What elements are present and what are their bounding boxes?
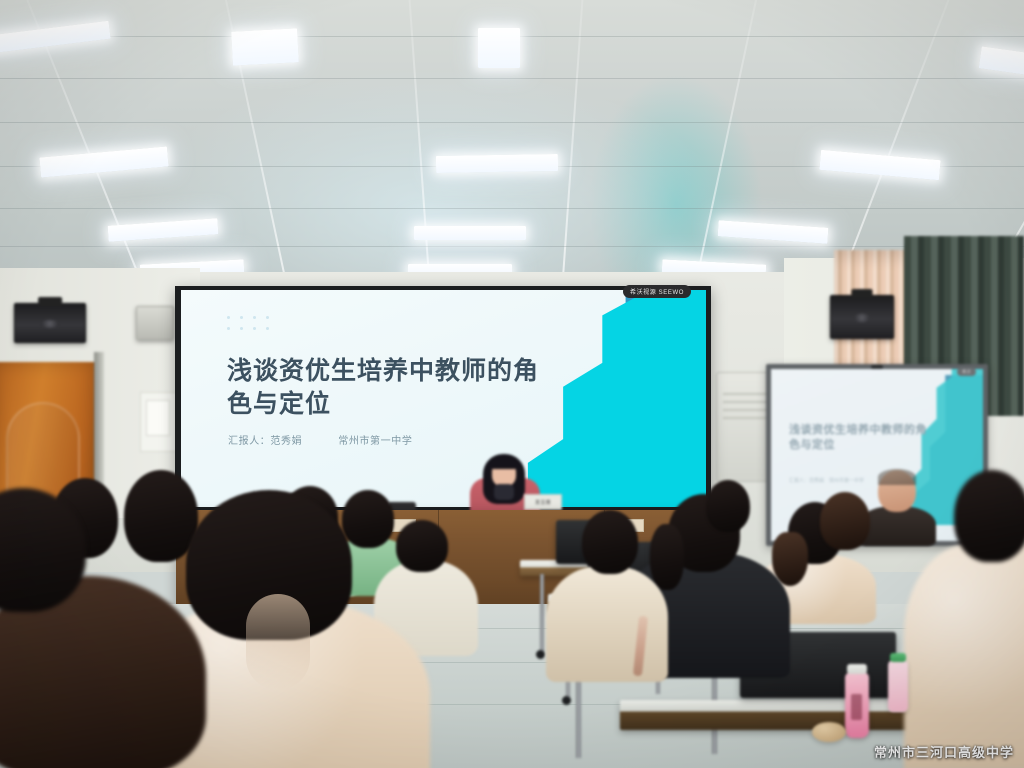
pink-thermos-bottle <box>845 672 869 738</box>
presentation-slide: 浅谈资优生培养中教师的角 色与定位 汇报人：范秀娟常州市第一中学 <box>181 290 706 507</box>
podium-nameplate: 发言席 <box>524 494 562 510</box>
person-head <box>582 510 638 574</box>
ceiling-seam <box>0 208 1024 209</box>
slide-presenter-label: 汇报人： <box>228 436 270 447</box>
desk-leg <box>540 574 544 652</box>
coat-seam <box>246 594 310 690</box>
wall-speaker-left-small <box>136 306 174 340</box>
slide-title-line-1: 浅谈资优生培养中教师的角 <box>227 354 567 387</box>
photo-watermark: 常州市三河口高级中学 <box>874 742 1014 761</box>
secondary-slide-subtitle: 汇报人：范秀娟 常州市第一中学 <box>789 477 864 484</box>
screen-brand-tag: 希沃视源 SEEWO <box>623 285 691 298</box>
ac-vent <box>723 401 771 403</box>
gold-cup <box>812 722 846 742</box>
ceiling-seam <box>0 122 1024 123</box>
pink-drink-bottle <box>888 660 908 712</box>
slide-presenter-name: 范秀娟 <box>270 436 302 447</box>
ceiling-light <box>231 28 299 65</box>
ac-vent <box>723 417 771 419</box>
person-shoulders <box>546 566 668 682</box>
person-head <box>706 480 750 532</box>
speaker-cone <box>854 313 870 322</box>
desk-caster <box>562 696 571 705</box>
ceiling-light <box>414 226 526 240</box>
desk-front-row <box>620 700 920 730</box>
ac-vent <box>723 409 771 411</box>
projection-screen[interactable]: 浅谈资优生培养中教师的角 色与定位 汇报人：范秀娟常州市第一中学 希沃视源 SE… <box>175 286 711 512</box>
wall-notice-inner <box>146 400 170 436</box>
secondary-slide-title: 浅谈资优生培养中教师的角 色与定位 <box>789 423 929 453</box>
person-hair <box>878 469 916 485</box>
speaker-mount <box>38 297 62 306</box>
foreground-person-left <box>0 488 100 618</box>
ceiling-seam <box>0 78 1024 79</box>
slide-dot-grid-decoration <box>227 316 279 338</box>
presenter-fringe <box>490 457 518 469</box>
audience-person <box>816 492 874 554</box>
desk-caster <box>536 650 545 659</box>
slide-organization: 常州市第一中学 <box>338 436 412 447</box>
ceiling-light <box>436 154 558 173</box>
secondary-title-line-2: 色与定位 <box>789 438 929 453</box>
ac-vent <box>723 393 771 395</box>
bottle-label <box>851 694 862 720</box>
slide-subtitle: 汇报人：范秀娟常州市第一中学 <box>228 432 412 447</box>
secondary-title-line-1: 浅谈资优生培养中教师的角 <box>789 423 929 438</box>
person-head <box>820 492 870 550</box>
wall-speaker-left <box>14 303 86 343</box>
person-head <box>0 488 86 612</box>
secondary-brand-tag: 希沃 <box>957 368 976 376</box>
ceiling-seam <box>0 246 1024 247</box>
presenter-scarf <box>494 484 514 500</box>
speaker-cone <box>41 320 59 328</box>
person-shoulders <box>904 544 1024 768</box>
slide-title-line-2: 色与定位 <box>227 387 567 420</box>
audience-person-edge <box>930 470 1024 768</box>
speaker-mount <box>851 289 872 298</box>
person-head <box>954 470 1024 562</box>
audience-person <box>700 480 752 534</box>
slide-title: 浅谈资优生培养中教师的角 色与定位 <box>227 354 567 420</box>
wall-speaker-right <box>830 295 894 339</box>
bottle-cap <box>847 664 867 674</box>
bottle-cap <box>890 653 906 662</box>
conference-room-photo: 浅谈资优生培养中教师的角 色与定位 汇报人：范秀娟常州市第一中学 希沃视源 SE… <box>0 0 1024 768</box>
ceiling-light <box>478 28 520 68</box>
